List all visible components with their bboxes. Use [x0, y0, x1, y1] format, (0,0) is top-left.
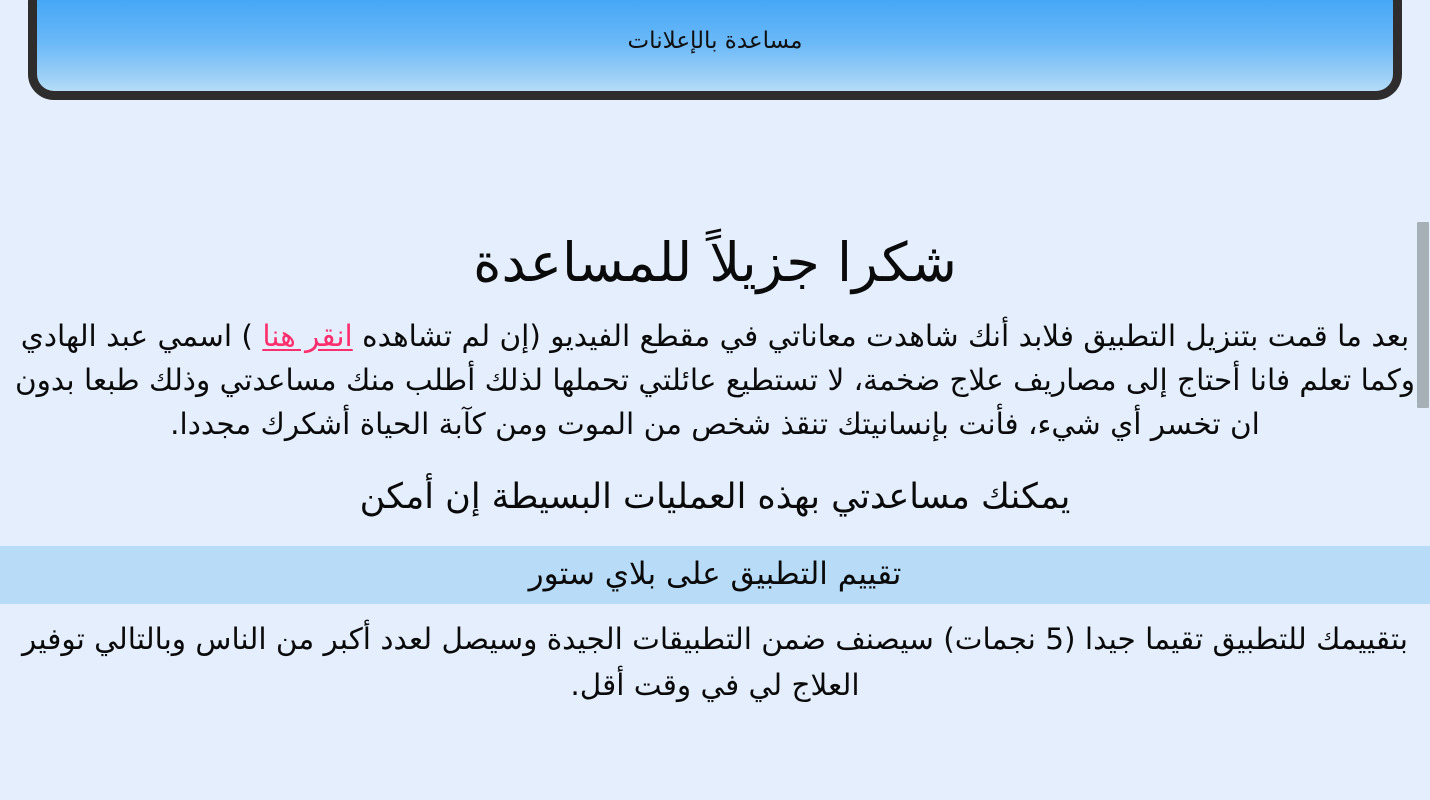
page-title: شكرا جزيلاً للمساعدة — [0, 110, 1430, 292]
rate-app-section-label: تقييم التطبيق على بلاي ستور — [529, 559, 902, 590]
vertical-scrollbar-track[interactable] — [1416, 110, 1430, 800]
watch-video-link[interactable]: انقر هنا — [262, 319, 352, 353]
app-screen: { "ad_banner": { "label": "مساعدة بالإعل… — [0, 0, 1430, 800]
vertical-scrollbar-thumb[interactable] — [1417, 222, 1429, 408]
ad-banner-container: مساعدة بالإعلانات — [28, 0, 1402, 100]
intro-text-before-link: بعد ما قمت بتنزيل التطبيق فلابد أنك شاهد… — [353, 319, 1410, 353]
scroll-content[interactable]: شكرا جزيلاً للمساعدة بعد ما قمت بتنزيل ا… — [0, 110, 1430, 800]
simple-actions-subheading: يمكنك مساعدتي بهذه العمليات البسيطة إن أ… — [0, 446, 1430, 518]
intro-paragraph: بعد ما قمت بتنزيل التطبيق فلابد أنك شاهد… — [0, 292, 1430, 446]
help-with-ads-button[interactable]: مساعدة بالإعلانات — [28, 0, 1402, 100]
rate-app-section-header[interactable]: تقييم التطبيق على بلاي ستور — [0, 546, 1430, 604]
help-with-ads-button-label: مساعدة بالإعلانات — [628, 30, 803, 53]
rate-app-description: بتقييمك للتطبيق تقيما جيدا (5 نجمات) سيص… — [0, 604, 1430, 708]
